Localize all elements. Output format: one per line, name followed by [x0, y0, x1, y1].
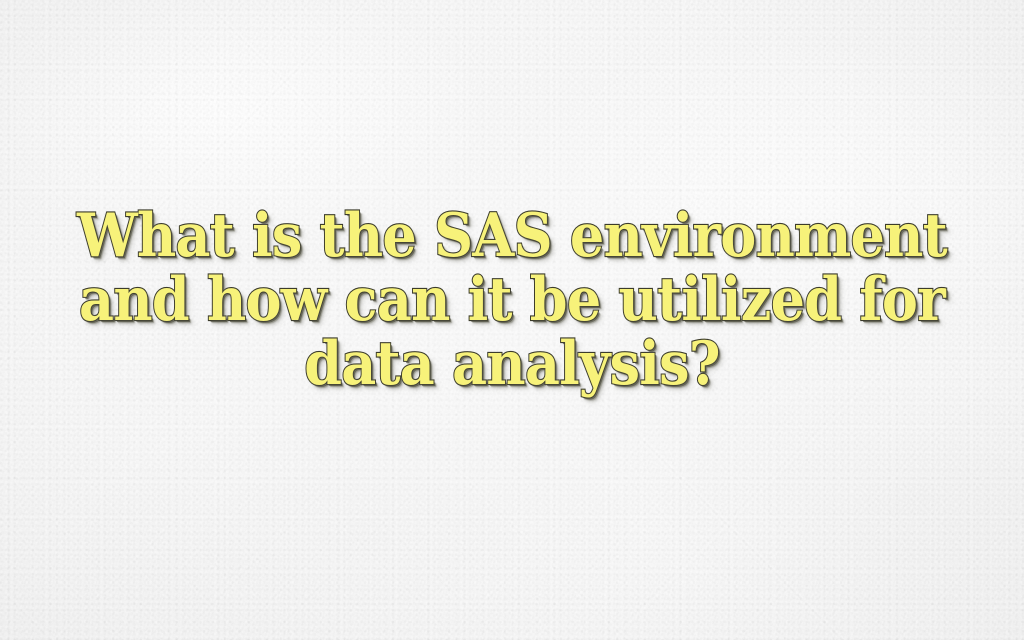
headline-line-3: data analysis?: [76, 332, 947, 396]
headline-line-1: What is the SAS environment: [76, 204, 947, 268]
title-card-canvas: What is the SAS environment and how can …: [0, 0, 1024, 640]
headline-line-2: and how can it be utilized for: [76, 268, 947, 332]
headline-block: What is the SAS environment and how can …: [0, 204, 1024, 396]
